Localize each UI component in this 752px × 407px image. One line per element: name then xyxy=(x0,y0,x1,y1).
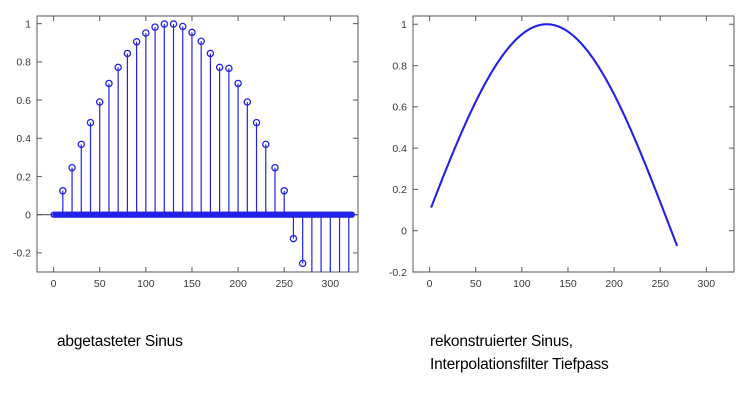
svg-text:200: 200 xyxy=(229,278,247,290)
reconstructed-sine-line-plot: 050100150200250300-0.200.20.40.60.81 xyxy=(376,0,752,320)
svg-text:0: 0 xyxy=(401,226,407,238)
figure-container: 050100150200250300-0.200.20.40.60.81 050… xyxy=(0,0,752,407)
svg-text:0: 0 xyxy=(427,278,433,290)
svg-text:150: 150 xyxy=(183,278,201,290)
svg-text:50: 50 xyxy=(94,278,106,290)
svg-text:1: 1 xyxy=(401,19,407,31)
svg-text:0.2: 0.2 xyxy=(392,184,407,196)
svg-text:100: 100 xyxy=(137,278,155,290)
svg-text:100: 100 xyxy=(513,278,531,290)
svg-text:0.8: 0.8 xyxy=(16,57,31,69)
svg-text:0: 0 xyxy=(25,209,31,221)
svg-text:-0.2: -0.2 xyxy=(389,267,407,279)
svg-text:300: 300 xyxy=(698,278,716,290)
svg-text:250: 250 xyxy=(651,278,669,290)
right-plot-panel: 050100150200250300-0.200.20.40.60.81 xyxy=(376,0,752,320)
svg-text:0.2: 0.2 xyxy=(16,171,31,183)
svg-text:0: 0 xyxy=(51,278,57,290)
svg-text:50: 50 xyxy=(470,278,482,290)
svg-text:0.6: 0.6 xyxy=(392,102,407,114)
caption-right: rekonstruierter Sinus, Interpolationsfil… xyxy=(430,330,609,376)
caption-left: abgetasteter Sinus xyxy=(57,330,183,353)
svg-text:0.8: 0.8 xyxy=(392,60,407,72)
svg-text:-0.2: -0.2 xyxy=(13,248,31,260)
svg-text:0.6: 0.6 xyxy=(16,95,31,107)
svg-text:0.4: 0.4 xyxy=(392,143,407,155)
left-plot-panel: 050100150200250300-0.200.20.40.60.81 xyxy=(0,0,376,320)
svg-text:200: 200 xyxy=(605,278,623,290)
svg-text:150: 150 xyxy=(559,278,577,290)
svg-text:1: 1 xyxy=(25,18,31,30)
sampled-sine-stem-plot: 050100150200250300-0.200.20.40.60.81 xyxy=(0,0,376,320)
svg-text:250: 250 xyxy=(275,278,293,290)
svg-text:300: 300 xyxy=(322,278,340,290)
svg-text:0.4: 0.4 xyxy=(16,133,31,145)
